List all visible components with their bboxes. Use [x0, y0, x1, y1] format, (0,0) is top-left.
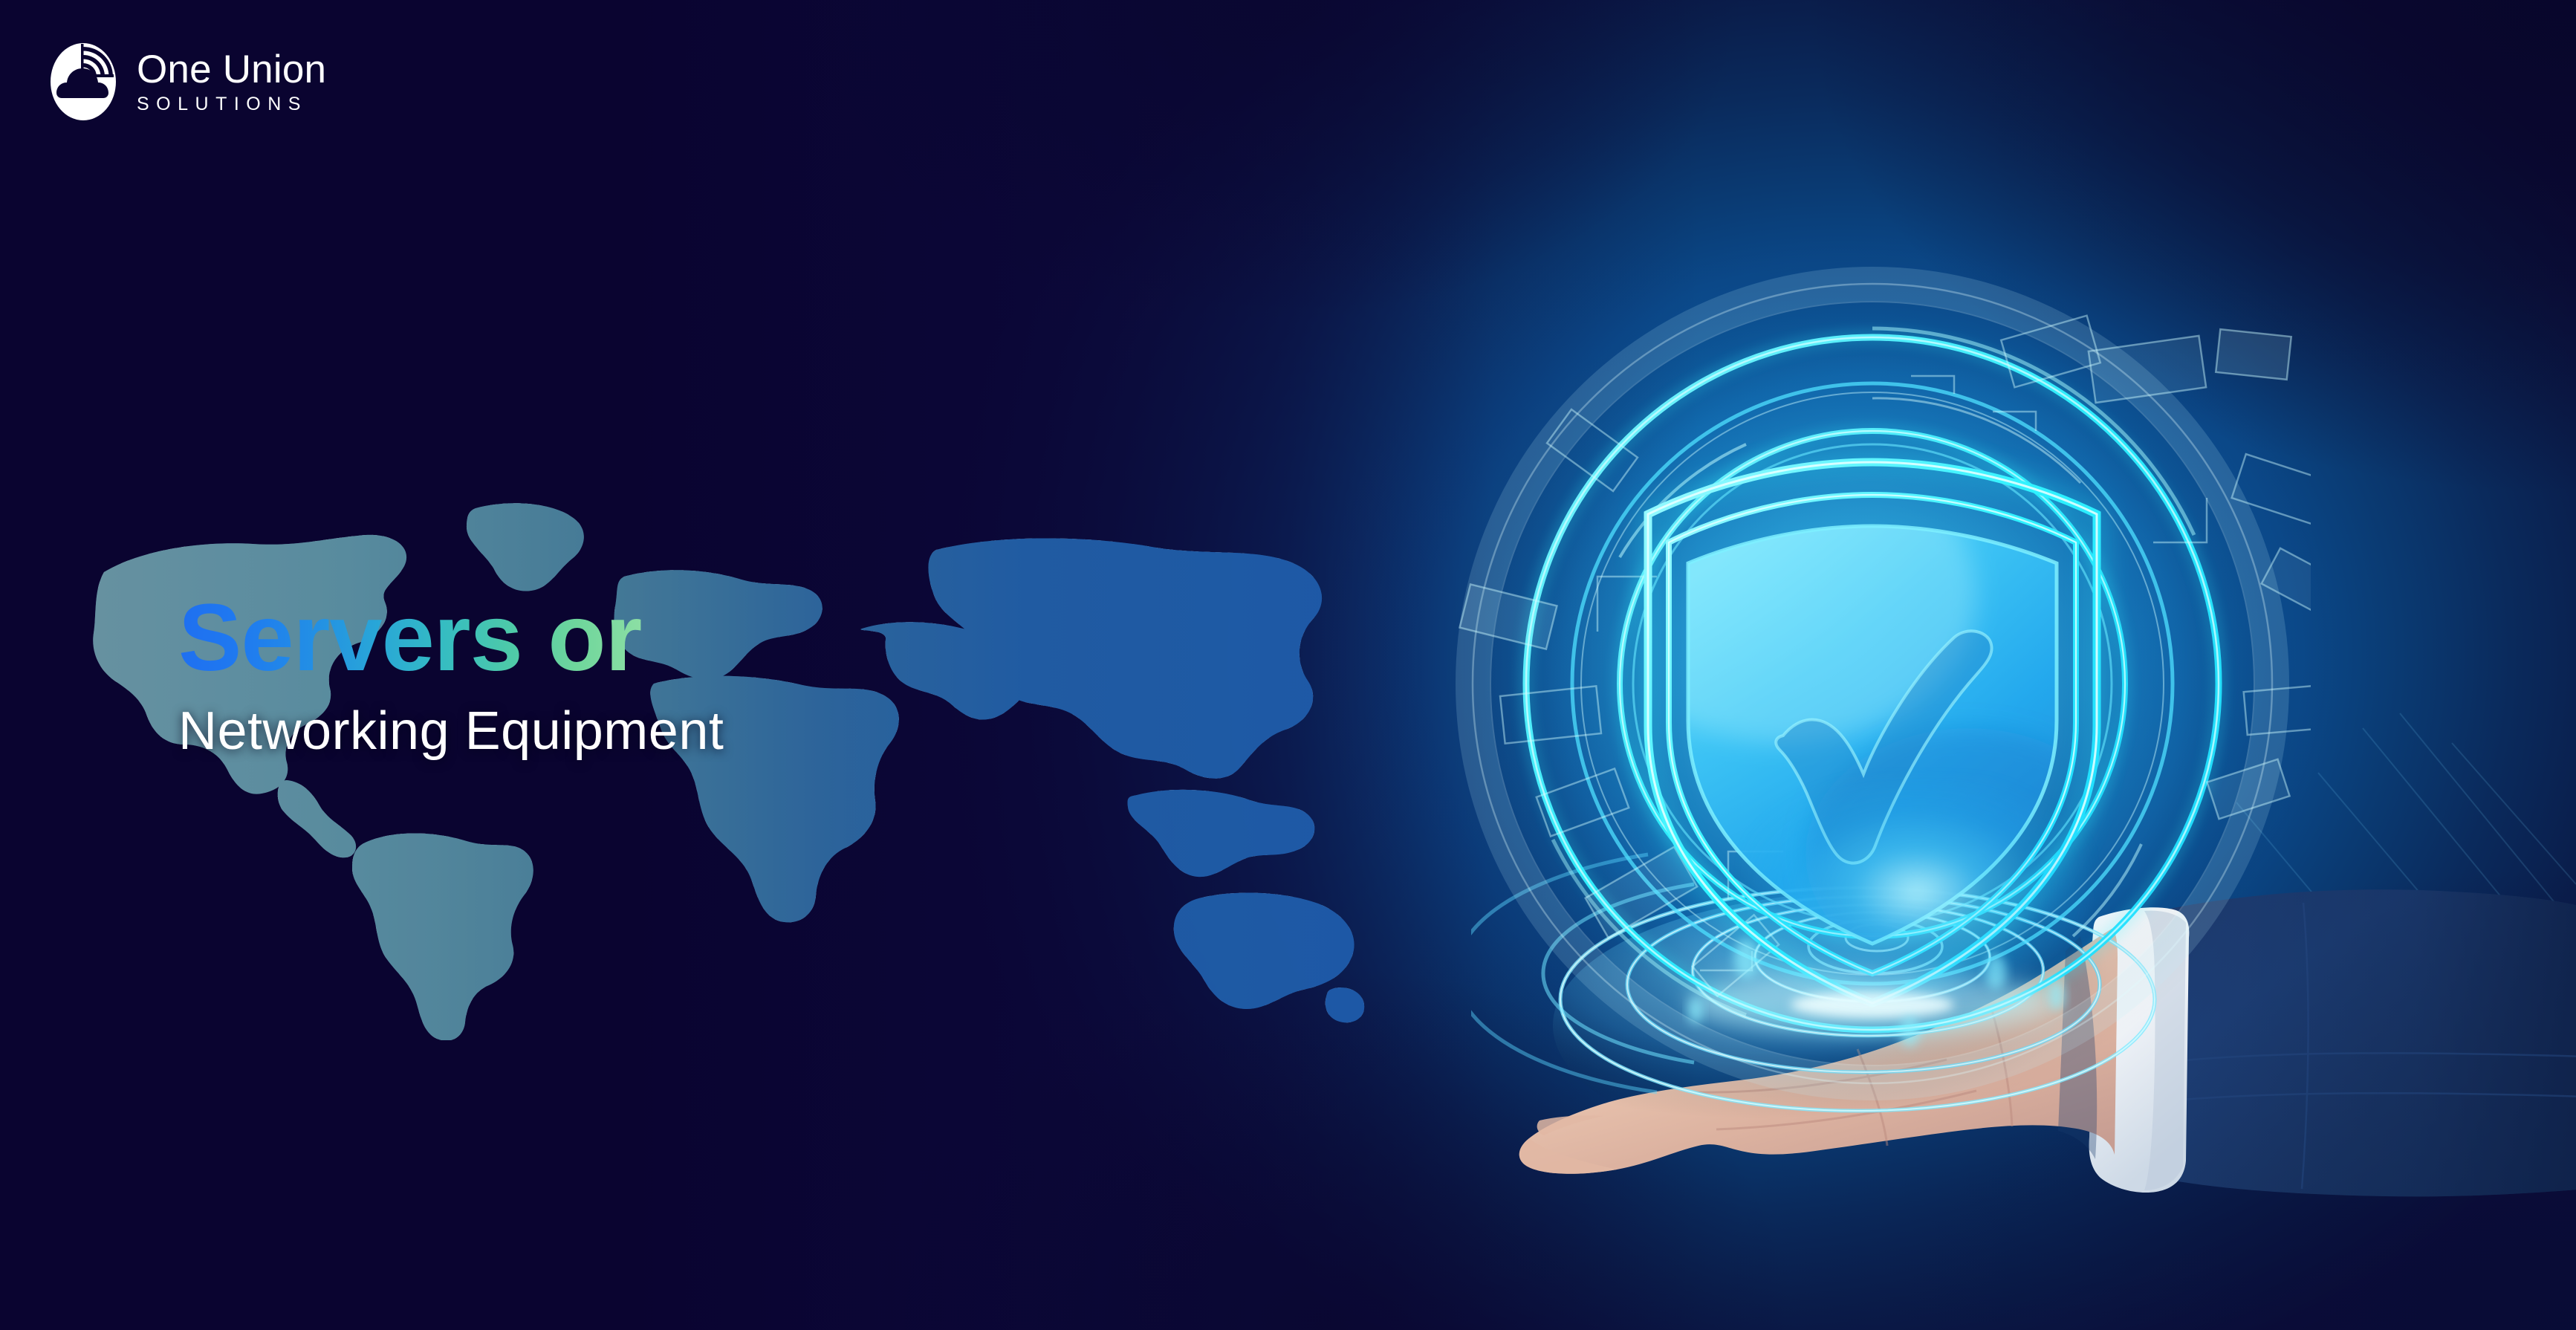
shield-check-hologram-icon — [1434, 245, 2311, 1122]
page-title: Servers or — [178, 591, 641, 686]
brand-name-primary: One Union — [137, 50, 326, 89]
page-subtitle: Networking Equipment — [178, 704, 724, 760]
brand-name-secondary: SOLUTIONS — [137, 95, 326, 114]
hero-copy: Servers or Networking Equipment — [178, 591, 724, 760]
banner-canvas: One Union SOLUTIONS Servers or Networkin… — [0, 0, 2576, 1330]
cloud-wifi-logo-icon — [45, 41, 122, 123]
brand-logo[interactable]: One Union SOLUTIONS — [45, 41, 326, 123]
